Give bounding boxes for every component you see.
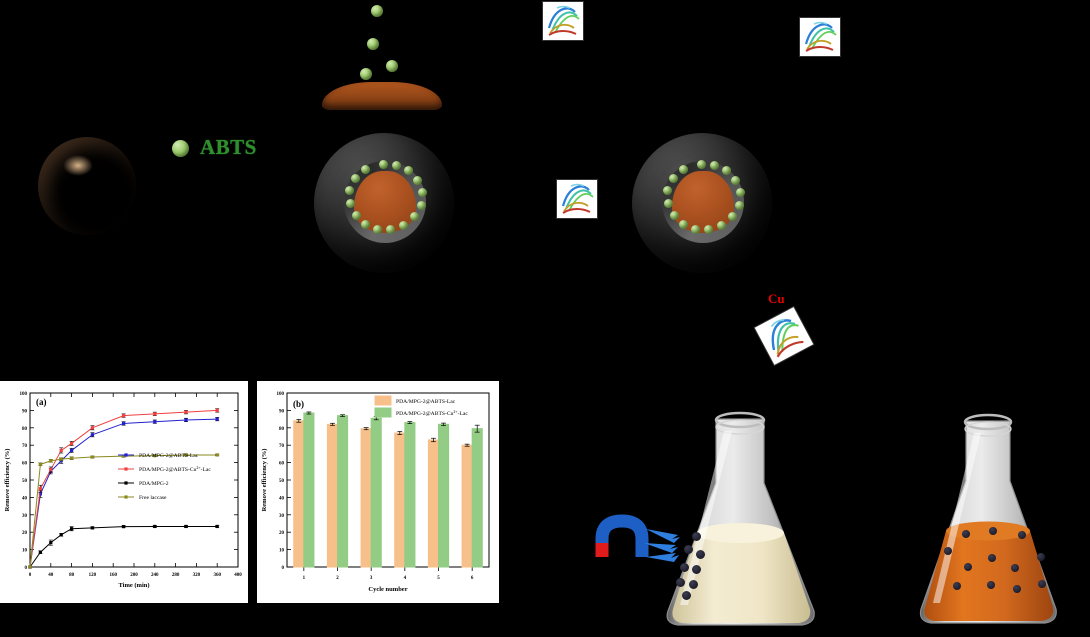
svg-text:360: 360: [213, 573, 221, 578]
dispersed-particle: [1037, 553, 1045, 561]
svg-text:Remove efficiency (%): Remove efficiency (%): [261, 449, 268, 512]
abts-label: ABTS: [200, 135, 257, 160]
svg-text:320: 320: [193, 573, 201, 578]
svg-text:120: 120: [89, 573, 97, 578]
svg-text:40: 40: [22, 496, 28, 501]
laccase-protein-icon: [557, 180, 597, 218]
svg-text:10: 10: [22, 549, 28, 554]
magnetic-particle: [692, 565, 701, 574]
svg-text:80: 80: [22, 427, 28, 432]
chart-panel-a: 0408012016020024028032036040001020304050…: [0, 381, 248, 603]
svg-text:280: 280: [172, 573, 180, 578]
dispersed-particle: [988, 554, 996, 562]
svg-text:160: 160: [109, 573, 117, 578]
abts-legend-dot: [172, 140, 189, 157]
flask-reaction: [888, 405, 1088, 637]
svg-text:PDA/MPG-2@ABTS-Lac: PDA/MPG-2@ABTS-Lac: [139, 453, 199, 459]
svg-text:Remove efficiency (%): Remove efficiency (%): [4, 449, 11, 512]
svg-text:80: 80: [69, 573, 75, 578]
dispersed-particle: [944, 547, 952, 555]
svg-text:(b): (b): [293, 399, 304, 409]
laccase-protein-icon-cu: [755, 307, 814, 365]
svg-text:70: 70: [279, 444, 285, 449]
dispersed-particle: [1011, 564, 1019, 572]
magnetic-particle: [680, 563, 689, 572]
svg-text:Cycle number: Cycle number: [368, 586, 407, 593]
laccase-protein-icon: [543, 2, 583, 40]
svg-text:PDA/MPG-2@ABTS-Cu2+-Lac: PDA/MPG-2@ABTS-Cu2+-Lac: [139, 465, 211, 473]
dispersed-particle: [989, 527, 997, 535]
svg-text:200: 200: [130, 573, 138, 578]
svg-text:PDA/MPG-2: PDA/MPG-2: [139, 481, 169, 487]
laccase-protein-icon: [800, 18, 840, 56]
magnetic-particle: [696, 550, 705, 559]
mpg-core-particle: [38, 137, 136, 235]
mpg-cap-shape: [322, 82, 442, 110]
svg-text:240: 240: [151, 573, 159, 578]
svg-text:20: 20: [22, 531, 28, 536]
svg-text:60: 60: [279, 462, 285, 467]
flask-magnetic-separation: [596, 405, 846, 637]
svg-text:100: 100: [277, 392, 285, 397]
svg-text:100: 100: [20, 392, 28, 397]
svg-text:400: 400: [234, 573, 242, 578]
svg-text:70: 70: [22, 444, 28, 449]
svg-text:10: 10: [279, 549, 285, 554]
magnetic-particle: [682, 591, 691, 600]
dispersed-particle: [962, 530, 970, 538]
cu-label: Cu: [768, 291, 785, 307]
dispersed-particle: [1018, 531, 1026, 539]
abts-dot: [360, 68, 372, 80]
chart-panel-b: 0102030405060708090100123456Cycle number…: [257, 381, 499, 603]
svg-text:90: 90: [279, 409, 285, 414]
dispersed-particle: [1013, 585, 1021, 593]
dispersed-particle: [964, 563, 972, 571]
svg-text:PDA/MPG-2@ABTS-Cu2+-Lac: PDA/MPG-2@ABTS-Cu2+-Lac: [396, 409, 468, 417]
svg-text:40: 40: [48, 573, 54, 578]
svg-text:90: 90: [22, 409, 28, 414]
svg-text:(a): (a): [36, 397, 47, 407]
svg-text:80: 80: [279, 427, 285, 432]
svg-text:Time (min): Time (min): [118, 582, 149, 589]
svg-text:60: 60: [22, 462, 28, 467]
magnetic-particle: [689, 580, 698, 589]
svg-text:PDA/MPG-2@ABTS-Lac: PDA/MPG-2@ABTS-Lac: [396, 399, 456, 405]
dispersed-particle: [1038, 580, 1046, 588]
svg-text:50: 50: [22, 479, 28, 484]
magnetic-particle: [676, 578, 685, 587]
svg-text:40: 40: [279, 496, 285, 501]
svg-text:Free laccase: Free laccase: [139, 495, 167, 501]
svg-text:20: 20: [279, 531, 285, 536]
svg-text:30: 30: [279, 514, 285, 519]
dispersed-particle: [987, 581, 995, 589]
svg-text:50: 50: [279, 479, 285, 484]
abts-dot: [367, 38, 379, 50]
magnetic-particle: [692, 532, 701, 541]
svg-text:30: 30: [22, 514, 28, 519]
coated-particle-middle: [314, 133, 454, 273]
magnetic-particle: [684, 545, 693, 554]
dispersed-particle: [953, 582, 961, 590]
abts-dot: [386, 60, 398, 72]
coated-particle-right: [632, 133, 772, 273]
abts-dot: [371, 5, 383, 17]
